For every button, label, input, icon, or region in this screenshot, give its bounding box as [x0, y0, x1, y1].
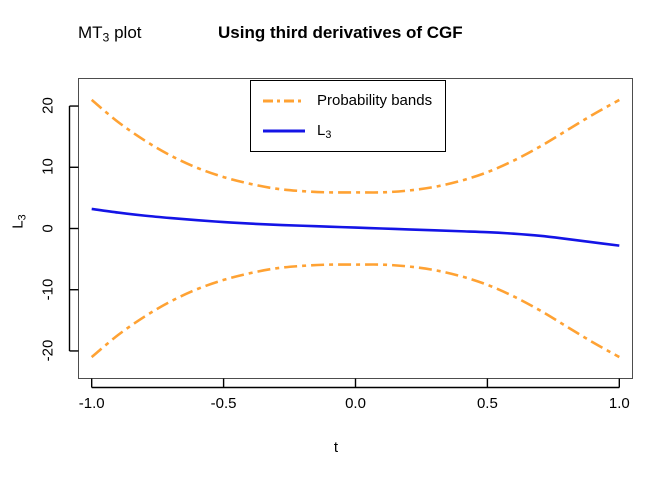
x-axis-ticks: [92, 379, 620, 388]
legend-label-probability-bands: Probability bands: [317, 91, 432, 111]
y-axis-title-subscript: 3: [17, 214, 29, 220]
legend-item-probability-bands: Probability bands: [251, 87, 445, 117]
y-tick-label: 0: [40, 208, 55, 248]
y-tick-label: -10: [40, 269, 55, 309]
x-tick-label: -0.5: [196, 396, 252, 411]
x-tick-label: 0.5: [459, 396, 515, 411]
y-axis-title-prefix: L: [10, 220, 27, 228]
legend-item-l3: L3: [251, 117, 445, 147]
chart-legend: Probability bands L3: [250, 80, 446, 152]
chart-figure: MT3 plot Using third derivatives of CGF …: [0, 0, 672, 480]
x-tick-label: -1.0: [64, 396, 120, 411]
legend-key-solid-icon: [263, 129, 305, 133]
y-axis-ticks: [70, 106, 79, 351]
plot-subtitle-suffix: plot: [109, 23, 141, 42]
y-tick-label: 10: [40, 147, 55, 187]
legend-label-l3-subscript: 3: [325, 129, 331, 141]
plot-subtitle-prefix: MT: [78, 23, 103, 42]
legend-label-l3: L3: [317, 121, 331, 141]
page-title: Using third derivatives of CGF: [218, 24, 463, 41]
y-tick-label: 20: [40, 86, 55, 126]
legend-key-dashdot-icon: [263, 99, 305, 103]
y-axis-title: L3: [11, 192, 26, 252]
x-axis-title: t: [0, 440, 672, 455]
y-tick-label: -20: [40, 330, 55, 370]
x-tick-label: 0.0: [328, 396, 384, 411]
plot-subtitle: MT3 plot: [78, 24, 142, 41]
x-tick-label: 1.0: [591, 396, 647, 411]
